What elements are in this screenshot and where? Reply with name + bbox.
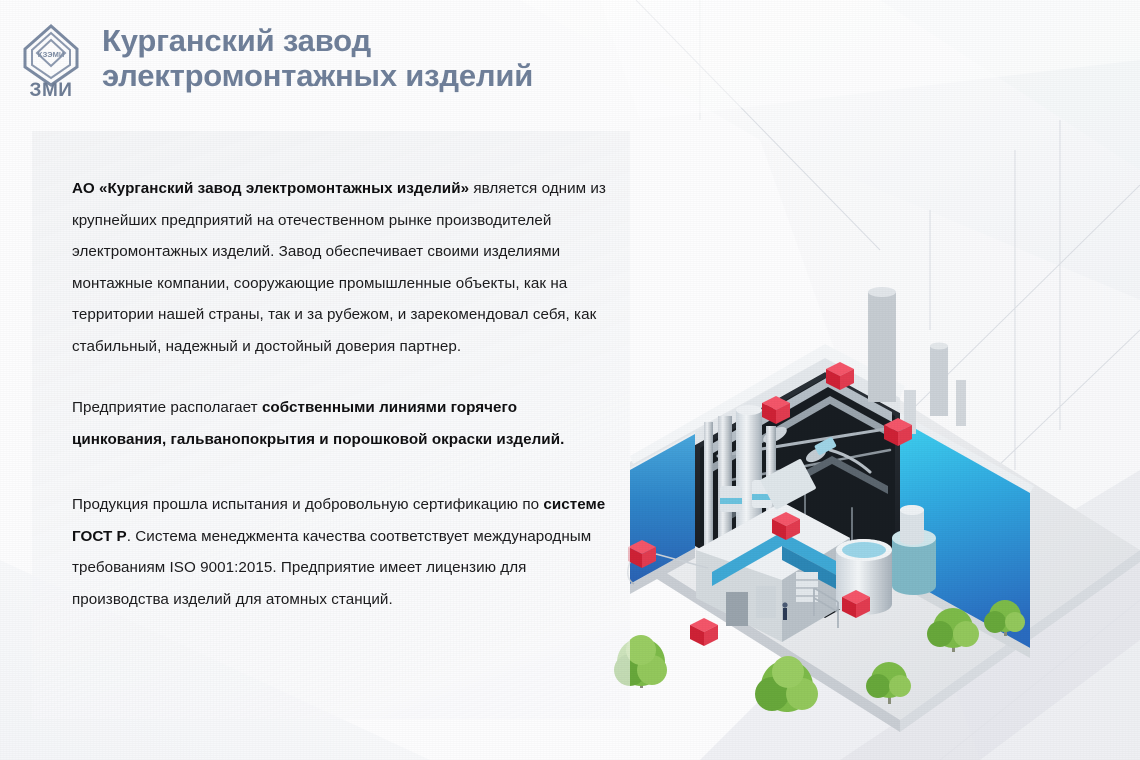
logo-letters: ЗМИ xyxy=(30,80,73,97)
marker-cube xyxy=(690,618,718,646)
paragraph-production-lines: Предприятие располагает собственными лин… xyxy=(72,392,606,455)
content-card: АО «Курганский завод электромонтажных из… xyxy=(32,131,630,719)
paragraph-company-intro: АО «Курганский завод электромонтажных из… xyxy=(72,173,606,362)
text-run: Предприятие располагает xyxy=(72,399,262,416)
text-run: является одним из крупнейших предприятий… xyxy=(72,180,606,355)
text-run-bold: АО «Курганский завод электромонтажных из… xyxy=(72,180,469,197)
logo-inner-text: КЗЭМИ xyxy=(38,50,65,59)
plant-3d-svg xyxy=(600,250,1140,750)
paragraph-certification: Продукция прошла испытания и добровольну… xyxy=(72,489,606,615)
page-title-line-2: электромонтажных изделий xyxy=(102,59,533,94)
text-run: Продукция прошла испытания и добровольну… xyxy=(72,496,543,513)
page-title-line-1: Курганский завод xyxy=(102,24,533,59)
page-title: Курганский завод электромонтажных издели… xyxy=(102,24,533,93)
zmi-logo: КЗЭМИ ЗМИ xyxy=(22,23,80,97)
content-body: АО «Курганский завод электромонтажных из… xyxy=(72,173,606,615)
text-run: . Система менеджмента качества соответст… xyxy=(72,528,591,608)
worker-figure xyxy=(782,602,787,620)
industrial-plant-illustration xyxy=(600,250,1140,750)
slide-root: КЗЭМИ ЗМИ Курганский завод электромонтаж… xyxy=(0,0,1140,760)
zmi-logo-mark: КЗЭМИ ЗМИ xyxy=(22,23,80,97)
slide-header: КЗЭМИ ЗМИ Курганский завод электромонтаж… xyxy=(0,0,1140,118)
